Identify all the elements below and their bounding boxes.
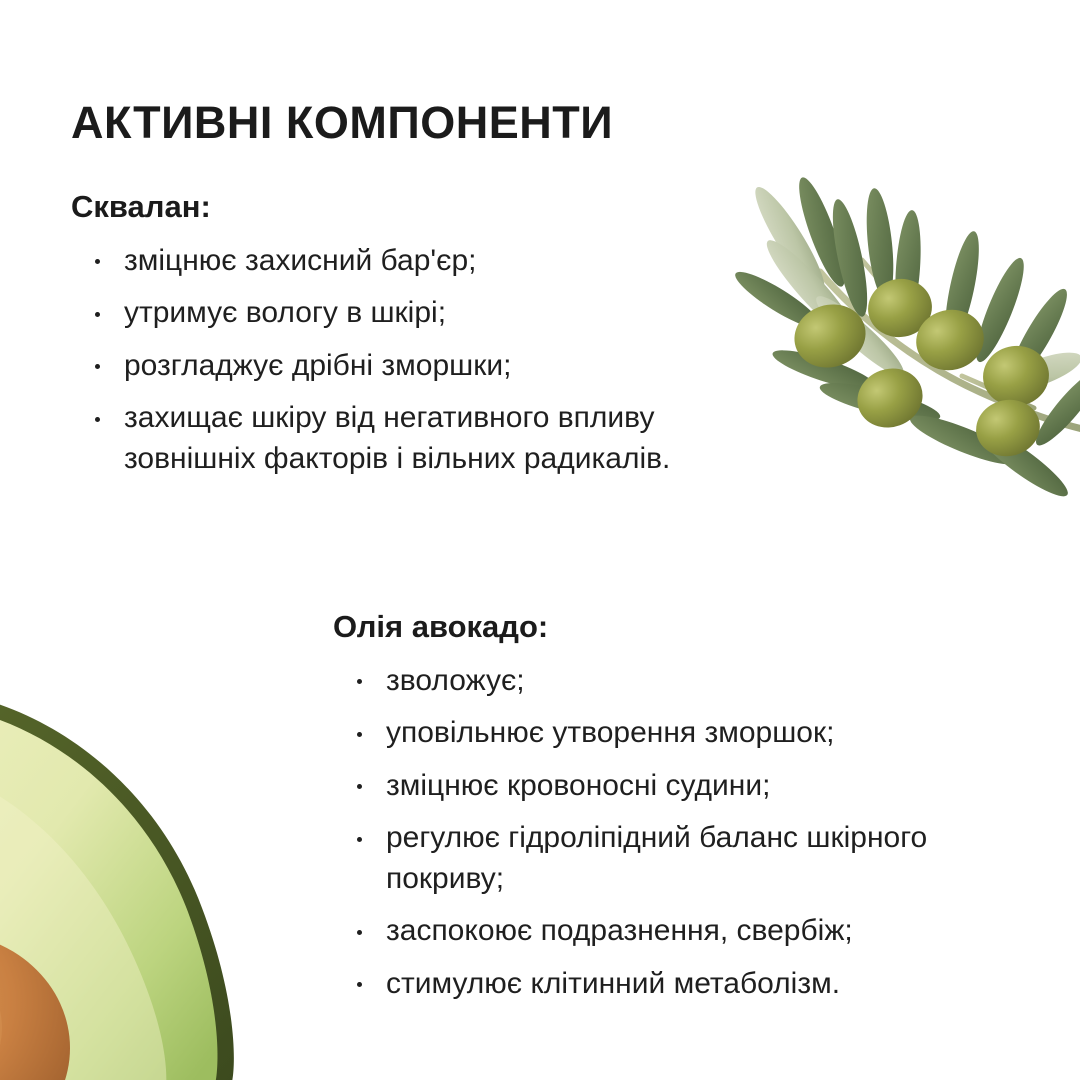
poster-canvas: АКТИВНІ КОМПОНЕНТИ: [0, 0, 1080, 1080]
list-item-label: стимулює клітинний метаболізм.: [386, 967, 840, 1000]
olive-branch-image: [712, 140, 1080, 510]
section-heading-avocado-oil: Олія авокадо:: [333, 608, 1033, 647]
bullet-dot-icon: [357, 732, 362, 737]
bullet-dot-icon: [95, 312, 100, 317]
list-item-label: розгладжує дрібні зморшки;: [124, 349, 511, 382]
list-item-label: зміцнює захисний бар'єр;: [124, 244, 476, 277]
bullet-dot-icon: [357, 679, 362, 684]
avocado-half-image: [0, 608, 330, 1080]
bullet-dot-icon: [95, 259, 100, 264]
list-item: регулює гідроліпідний баланс шкірного по…: [333, 818, 1033, 899]
bullet-dot-icon: [95, 417, 100, 422]
list-item: розгладжує дрібні зморшки;: [71, 346, 731, 387]
section-avocado-oil: Олія авокадо: зволожує; уповільнює утвор…: [333, 608, 1033, 1004]
list-item: стимулює клітинний метаболізм.: [333, 964, 1033, 1005]
list-item-label: захищає шкіру від негативного впливу зов…: [124, 401, 670, 475]
bullet-list-avocado-oil: зволожує; уповільнює утворення зморшок; …: [333, 661, 1033, 1005]
list-item-label: утримує вологу в шкірі;: [124, 296, 446, 329]
list-item-label: заспокоює подразнення, свербіж;: [386, 914, 853, 947]
bullet-list-squalane: зміцнює захисний бар'єр; утримує вологу …: [71, 241, 731, 480]
bullet-dot-icon: [357, 784, 362, 789]
list-item: утримує вологу в шкірі;: [71, 293, 731, 334]
section-heading-squalane: Сквалан:: [71, 188, 731, 227]
list-item: захищає шкіру від негативного впливу зов…: [71, 398, 731, 479]
page-title: АКТИВНІ КОМПОНЕНТИ: [71, 98, 613, 148]
bullet-dot-icon: [357, 837, 362, 842]
bullet-dot-icon: [357, 930, 362, 935]
list-item: зміцнює захисний бар'єр;: [71, 241, 731, 282]
list-item-label: регулює гідроліпідний баланс шкірного по…: [386, 821, 927, 895]
list-item: заспокоює подразнення, свербіж;: [333, 911, 1033, 952]
list-item: зміцнює кровоносні судини;: [333, 766, 1033, 807]
bullet-dot-icon: [357, 982, 362, 987]
section-squalane: Сквалан: зміцнює захисний бар'єр; утриму…: [71, 188, 731, 479]
bullet-dot-icon: [95, 364, 100, 369]
list-item-label: зміцнює кровоносні судини;: [386, 769, 770, 802]
list-item-label: уповільнює утворення зморшок;: [386, 716, 834, 749]
list-item: зволожує;: [333, 661, 1033, 702]
list-item: уповільнює утворення зморшок;: [333, 713, 1033, 754]
list-item-label: зволожує;: [386, 664, 525, 697]
